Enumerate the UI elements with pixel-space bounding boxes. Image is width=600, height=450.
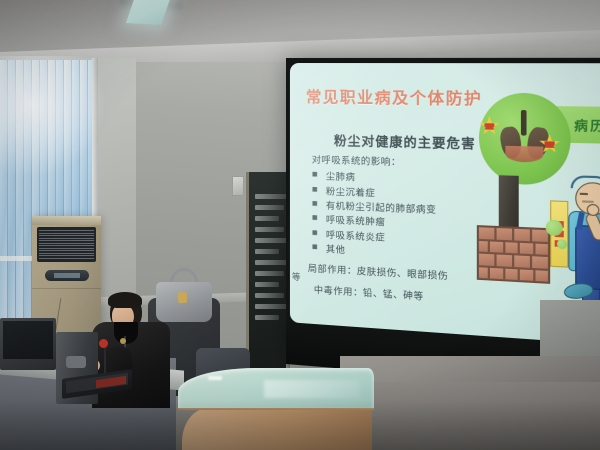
microphone-head [99, 339, 108, 348]
slide-illustration: 病历 [475, 88, 600, 320]
air-conditioner-display-panel[interactable] [45, 270, 89, 281]
square-bullet-icon: ■ [304, 201, 326, 208]
bullet-label: 粉尘沉着症 [326, 183, 375, 199]
worker-hand [587, 204, 600, 216]
worker-cap [571, 175, 600, 189]
worker-mouth [582, 200, 594, 203]
slide-subtitle: 粉尘对健康的主要危害 [334, 130, 476, 153]
trachea-shape [521, 110, 527, 136]
right-wall [540, 300, 600, 364]
thought-dot-small-icon [557, 239, 567, 249]
worker-eye [580, 193, 588, 195]
air-conditioner-grille [37, 227, 96, 262]
square-bullet-icon: ■ [304, 186, 326, 193]
slide-title: 常见职业病及个体防护 [306, 85, 482, 109]
air-conditioner-seam [32, 288, 101, 289]
classroom-photo-scene: 常见职业病及个体防护 粉尘对健康的主要危害 对呼吸系统的影响： ■ 尘肺病 ■ … [0, 0, 600, 450]
square-bullet-icon: ■ [304, 172, 326, 179]
chalk-writing [255, 194, 289, 320]
square-bullet-icon: ■ [304, 215, 326, 222]
bullet-label: 尘肺病 [326, 168, 356, 183]
note-text: 中毒作用：铅、锰、砷等 [314, 282, 424, 303]
monitor-screen [3, 321, 53, 359]
brick-wall [477, 225, 550, 284]
thought-dot-large-icon [546, 219, 563, 236]
presenter-collar [114, 322, 138, 344]
blackboard [246, 172, 289, 374]
square-bullet-icon: ■ [304, 230, 326, 237]
slide-lead-line: 对呼吸系统的影响： [312, 152, 401, 169]
medical-record-label: 病历 [574, 115, 600, 134]
air-conditioner-top [32, 216, 101, 225]
handbag-clasp [178, 292, 187, 303]
worker-figure [550, 175, 600, 316]
podium-highlight [208, 376, 222, 380]
floor-shadow-gradient [0, 400, 600, 450]
desktop-monitor [0, 318, 56, 370]
square-bullet-icon: ■ [304, 244, 326, 251]
presenter-hair-front [108, 292, 142, 308]
podium-screen-reflection [264, 380, 360, 398]
bullet-label: 其他 [326, 241, 346, 256]
tower-power-panel[interactable] [66, 356, 86, 368]
lung-tint-shape [505, 146, 543, 163]
lungs-icon [499, 110, 550, 166]
presenter-coat-button [120, 338, 126, 344]
wall-mounted-box [232, 176, 244, 196]
ceiling-light-panel [126, 0, 172, 25]
